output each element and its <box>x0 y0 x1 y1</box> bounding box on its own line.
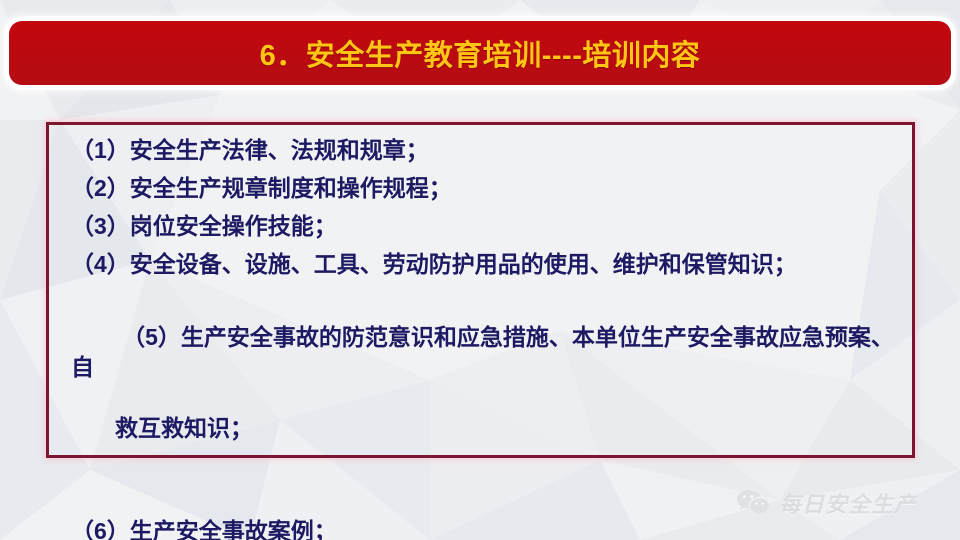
wechat-icon <box>736 489 770 517</box>
page-title: 6．安全生产教育培训----培训内容 <box>260 32 701 74</box>
list-item-line2: 救互救知识； <box>71 413 894 444</box>
content-box: （1）安全生产法律、法规和规章； （2）安全生产规章制度和操作规程； （3）岗位… <box>46 122 915 458</box>
watermark-label: 每日安全生产 <box>779 487 917 519</box>
content-list: （1）安全生产法律、法规和规章； （2）安全生产规章制度和操作规程； （3）岗位… <box>49 125 912 540</box>
list-item: （3）岗位安全操作技能； <box>71 215 894 238</box>
list-item: （1）安全生产法律、法规和规章； <box>71 139 894 162</box>
list-item: （6）生产安全事故案例； <box>71 520 894 540</box>
watermark: 每日安全生产 <box>736 487 917 519</box>
presentation-slide: 6．安全生产教育培训----培训内容 （1）安全生产法律、法规和规章； （2）安… <box>0 0 960 540</box>
slide-title-banner: 6．安全生产教育培训----培训内容 <box>9 21 951 85</box>
list-item-line1: （5）生产安全事故的防范意识和应急措施、本单位生产安全事故应急预案、自 <box>71 324 894 381</box>
list-item: （4）安全设备、设施、工具、劳动防护用品的使用、维护和保管知识； <box>71 253 894 276</box>
list-item: （2）安全生产规章制度和操作规程； <box>71 177 894 200</box>
list-item: （5）生产安全事故的防范意识和应急措施、本单位生产安全事故应急预案、自 救互救知… <box>71 291 894 505</box>
